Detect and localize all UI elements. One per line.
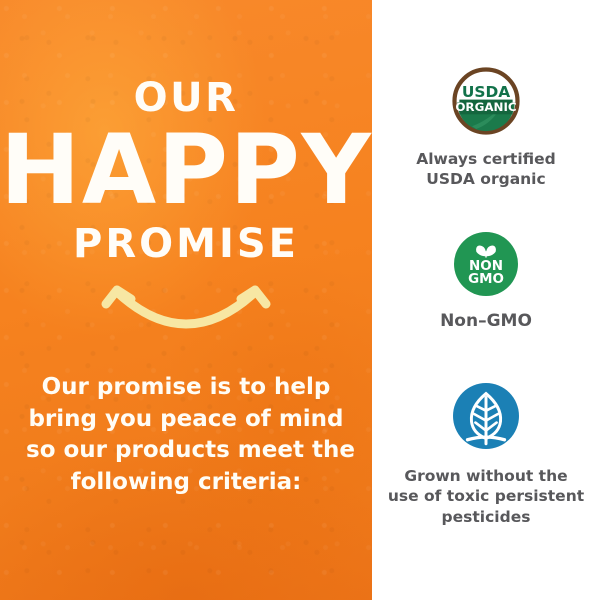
non-gmo-seal-top-text: NON xyxy=(469,259,503,274)
headline-line-promise: PROMISE xyxy=(0,224,372,264)
blue-leaf-sprout-icon xyxy=(453,383,519,449)
promise-paragraph-line-3: so our products meet the xyxy=(26,435,346,467)
badge-no-toxic-pesticides-caption: Grown without the use of toxic persisten… xyxy=(372,466,600,527)
non-gmo-project-leaf-icon: NON GMO xyxy=(454,232,518,296)
badge-non-gmo-caption: Non–GMO xyxy=(372,310,600,332)
badge-usda-organic: USDA ORGANIC Always certified USDA organ… xyxy=(372,66,600,190)
non-gmo-seal-container: NON GMO xyxy=(372,232,600,296)
blue-leaf-seal-container xyxy=(372,383,600,449)
usda-seal-bottom-text: ORGANIC xyxy=(455,100,516,114)
orange-promise-panel: OUR HAPPY PROMISE Our promise is to help… xyxy=(0,0,372,600)
non-gmo-caption-line-1: Non–GMO xyxy=(380,310,592,332)
smile-arc-arrows-icon xyxy=(101,282,271,344)
pesticides-caption-line-1: Grown without the xyxy=(380,466,592,486)
badge-non-gmo: NON GMO Non–GMO xyxy=(372,232,600,332)
headline-block: OUR HAPPY PROMISE xyxy=(0,78,372,264)
promise-paragraph-line-2: bring you peace of mind xyxy=(26,404,346,436)
happy-promise-poster: OUR HAPPY PROMISE Our promise is to help… xyxy=(0,0,600,600)
headline-line-happy: HAPPY xyxy=(0,122,372,218)
promise-paragraph-line-4: following criteria: xyxy=(26,467,346,499)
headline-line-our: OUR xyxy=(0,78,372,118)
usda-organic-seal-icon: USDA ORGANIC xyxy=(451,66,521,136)
badge-no-toxic-pesticides: Grown without the use of toxic persisten… xyxy=(372,383,600,527)
certification-badge-column: USDA ORGANIC Always certified USDA organ… xyxy=(372,0,600,600)
promise-paragraph: Our promise is to help bring you peace o… xyxy=(0,372,372,498)
promise-paragraph-line-1: Our promise is to help xyxy=(26,372,346,404)
usda-caption-line-1: Always certified xyxy=(380,149,592,169)
badge-usda-organic-caption: Always certified USDA organic xyxy=(372,149,600,190)
usda-caption-line-2: USDA organic xyxy=(380,169,592,189)
pesticides-caption-line-3: pesticides xyxy=(380,507,592,527)
pesticides-caption-line-2: use of toxic persistent xyxy=(380,486,592,506)
smile-arc-container xyxy=(0,282,372,344)
non-gmo-seal-bottom-text: GMO xyxy=(468,272,504,287)
usda-organic-seal-container: USDA ORGANIC xyxy=(372,66,600,136)
usda-seal-top-text: USDA xyxy=(462,83,510,101)
